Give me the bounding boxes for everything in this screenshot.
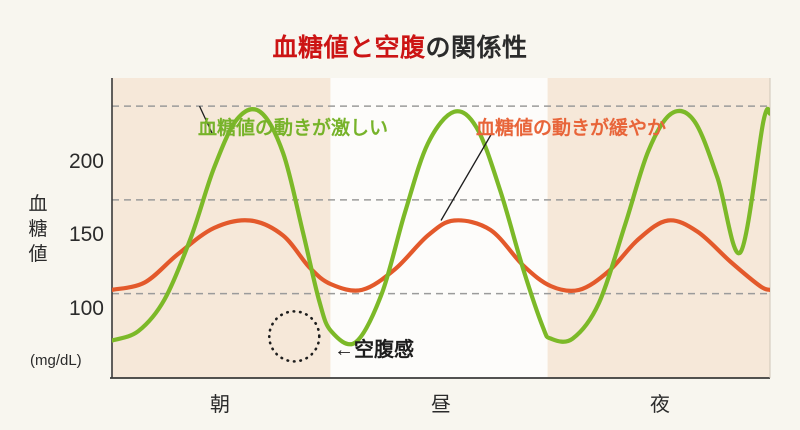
annotation-orange-label: 血糖値の動きが緩やか [476,113,666,140]
x-tick-noon: 昼 [401,388,481,417]
y-axis-unit: (mg/dL) [30,352,82,369]
y-axis-title: 血糖値 [26,192,50,267]
y-tick-100: 100 [40,297,104,321]
chart-plot [0,0,800,430]
y-tick-200: 200 [40,150,104,174]
x-tick-night: 夜 [620,388,700,417]
chart-root: 血糖値と空腹の関係性 200 150 100 血糖値 (mg/dL) 朝 昼 夜… [0,0,800,430]
annotation-green-label: 血糖値の動きが激しい [198,113,388,140]
x-tick-morning: 朝 [180,388,260,417]
annotation-hunger-label: ←空腹感 [334,333,414,362]
